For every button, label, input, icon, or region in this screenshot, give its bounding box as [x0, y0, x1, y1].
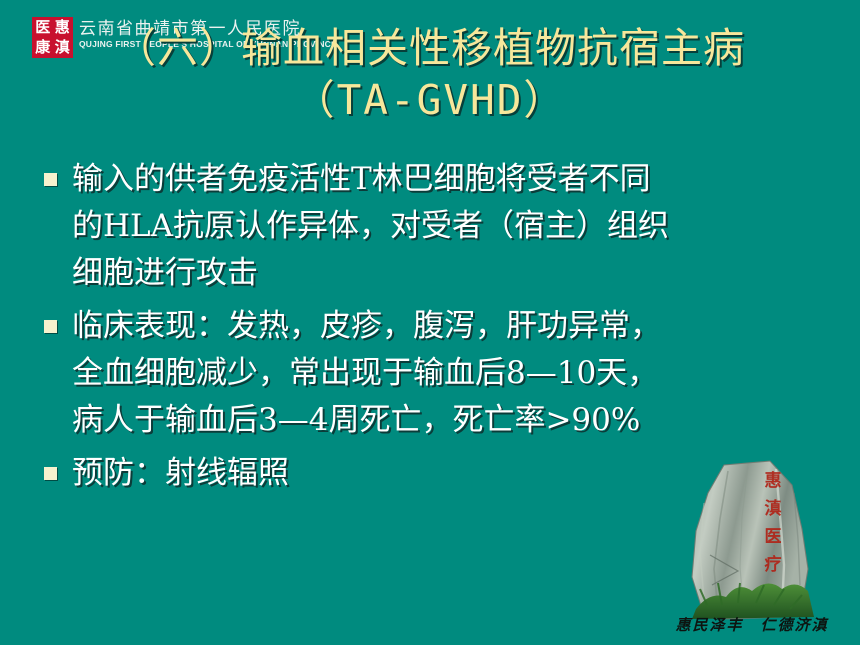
stone-char-3: 医: [760, 523, 786, 551]
bullet-2-line-3: 病人于输血后3—4周死亡，死亡率>90%: [72, 397, 661, 444]
list-item: 输入的供者免疫活性T林巴细胞将受者不同 的HLA抗原认作异体，对受者（宿主）组织…: [44, 156, 834, 297]
bullet-1-line-3: 细胞进行攻击: [72, 250, 669, 297]
square-bullet-icon: [44, 320, 57, 333]
bullet-1-line-1: 输入的供者免疫活性T林巴细胞将受者不同: [72, 156, 669, 203]
list-item: 临床表现：发热，皮疹，腹泻，肝功异常， 全血细胞减少，常出现于输血后8—10天，…: [44, 303, 834, 444]
bullet-text-2: 临床表现：发热，皮疹，腹泻，肝功异常， 全血细胞减少，常出现于输血后8—10天，…: [72, 303, 661, 444]
slide-title: （六）输血相关性移植物抗宿主病 （TA-GVHD）: [0, 22, 860, 126]
bullet-text-1: 输入的供者免疫活性T林巴细胞将受者不同 的HLA抗原认作异体，对受者（宿主）组织…: [72, 156, 669, 297]
bullet-1-line-2: 的HLA抗原认作异体，对受者（宿主）组织: [72, 203, 669, 250]
bullet-2-line-2: 全血细胞减少，常出现于输血后8—10天，: [72, 350, 661, 397]
bullet-2-line-1: 临床表现：发热，皮疹，腹泻，肝功异常，: [72, 303, 661, 350]
square-bullet-icon: [44, 467, 57, 480]
slide-canvas: 医 惠 康 滇 云南省曲靖市第一人民医院 QUJING FIRST PEOPLE…: [0, 0, 860, 645]
slide-title-line-2: （TA-GVHD）: [0, 74, 860, 126]
list-item: 预防：射线辐照: [44, 450, 834, 497]
slide-title-line-1: （六）输血相关性移植物抗宿主病: [0, 22, 860, 74]
stone-char-4: 疗: [760, 551, 786, 579]
bullet-text-3: 预防：射线辐照: [72, 450, 289, 497]
monument-caption-text: 惠民泽丰 仁德济滇: [652, 614, 852, 635]
square-bullet-icon: [44, 173, 57, 186]
bullet-3-line-1: 预防：射线辐照: [72, 450, 289, 497]
bullet-list: 输入的供者免疫活性T林巴细胞将受者不同 的HLA抗原认作异体，对受者（宿主）组织…: [44, 156, 834, 503]
